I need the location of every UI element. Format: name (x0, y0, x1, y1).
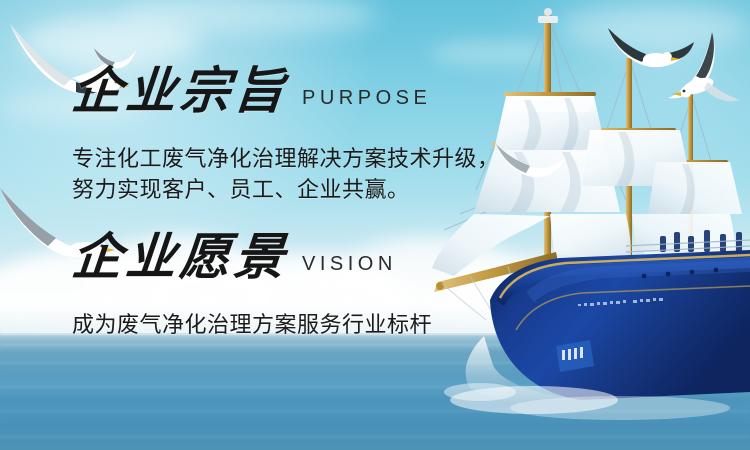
purpose-body-line-2: 努力实现客户、员工、企业共赢。 (72, 175, 500, 206)
banner-text-layer: 企业宗旨 PURPOSE 专注化工废气净化治理解决方案技术升级， 努力实现客户、… (0, 0, 750, 450)
vision-en-heading: VISION (302, 253, 397, 282)
purpose-body-text: 专注化工废气净化治理解决方案技术升级， 努力实现客户、员工、企业共赢。 (72, 144, 500, 206)
purpose-body-line-1: 专注化工废气净化治理解决方案技术升级， (72, 144, 500, 175)
corporate-vision-banner: 企业宗旨 PURPOSE 专注化工废气净化治理解决方案技术升级， 努力实现客户、… (0, 0, 750, 450)
vision-body-text: 成为废气净化治理方案服务行业标杆 (72, 310, 432, 341)
vision-cn-heading: 企业愿景 (70, 232, 290, 282)
vision-body-line-1: 成为废气净化治理方案服务行业标杆 (72, 310, 432, 341)
purpose-en-heading: PURPOSE (302, 87, 431, 116)
vision-heading-row: 企业愿景 VISION (72, 232, 397, 282)
purpose-heading-row: 企业宗旨 PURPOSE (72, 66, 431, 116)
purpose-cn-heading: 企业宗旨 (70, 66, 290, 116)
